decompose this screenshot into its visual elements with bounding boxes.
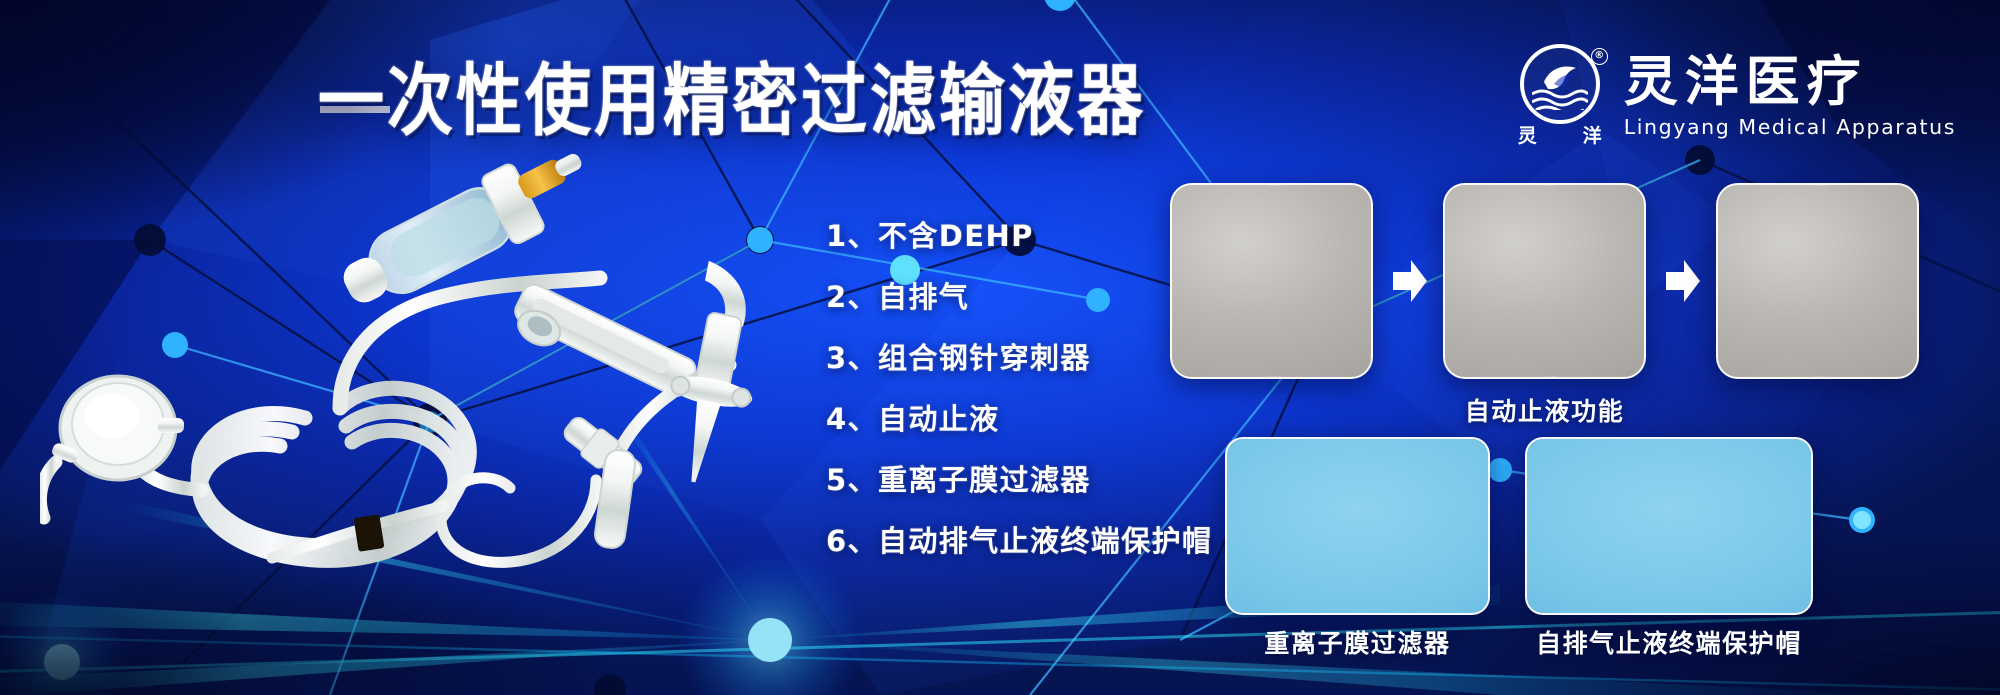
sequence-arrow-1-icon [1393,257,1427,305]
autostop-caption: 自动止液功能 [1443,392,1646,428]
feature-item-6: 6、自动排气止液终端保护帽 [826,523,1212,559]
component-photo-end-cap [1525,437,1813,615]
feature-item-5: 5、重离子膜过滤器 [826,462,1212,498]
component-photo-heavy-ion-filter [1225,437,1490,615]
feature-list: 1、不含DEHP 2、自排气 3、组合钢针穿刺器 4、自动止液 5、重离子膜过滤… [826,218,1212,559]
feature-item-2: 2、自排气 [826,279,1212,315]
component-caption-1: 重离子膜过滤器 [1225,624,1490,660]
sequence-arrow-2-icon [1666,257,1700,305]
logo-wave-icon [1532,88,1588,110]
company-name-cn: 灵洋医疗 [1624,53,1956,111]
company-name-en: Lingyang Medical Apparatus [1624,114,1956,140]
autostop-photo-2 [1443,183,1646,379]
autostop-photo-1 [1170,183,1373,379]
autostop-photo-3 [1716,183,1919,379]
component-caption-2: 自排气止液终端保护帽 [1525,624,1813,660]
product-photo-infusion-set [40,150,800,570]
feature-item-1: 1、不含DEHP [826,218,1212,254]
product-banner: 一次性使用精密过滤输液器 ® 灵 洋 灵洋医疗 L [0,0,2000,695]
logo-emblem-icon: ® 灵 洋 [1514,44,1606,148]
page-title: 一次性使用精密过滤输液器 [318,58,1146,145]
brand-logo: ® 灵 洋 灵洋医疗 Lingyang Medical Apparatus [1514,44,1956,148]
feature-item-4: 4、自动止液 [826,401,1212,437]
feature-item-3: 3、组合钢针穿刺器 [826,340,1212,376]
logo-mark-char-right: 洋 [1583,121,1602,148]
logo-mark-char-left: 灵 [1518,121,1537,148]
